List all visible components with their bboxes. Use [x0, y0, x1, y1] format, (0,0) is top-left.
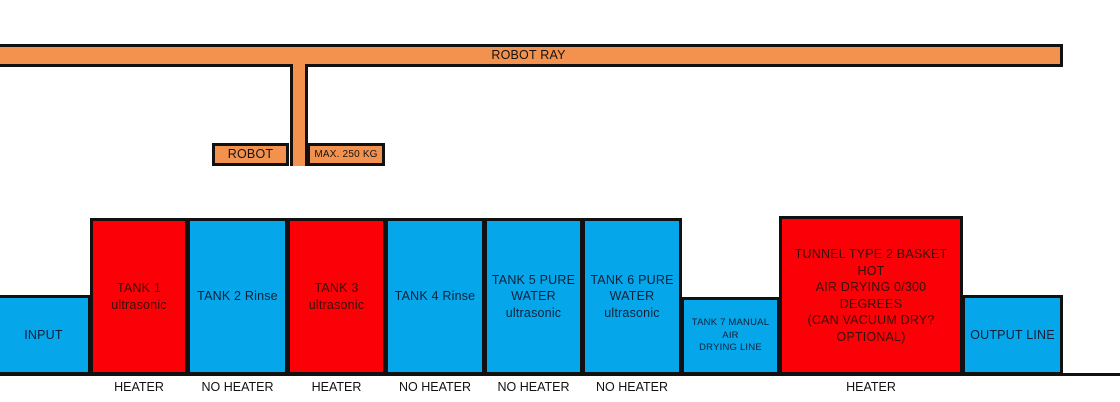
station-label: TANK 2 Rinse: [190, 288, 285, 305]
heater-caption: HEATER: [287, 376, 386, 398]
station-tank-6[interactable]: TANK 6 PURE WATER ultrasonic: [582, 218, 682, 375]
station-output-line[interactable]: OUTPUT LINE: [962, 295, 1063, 375]
robot-column: [290, 64, 308, 166]
station-label: OUTPUT LINE: [965, 327, 1060, 344]
robot-unit-label: ROBOT: [215, 146, 286, 163]
station-tank-3[interactable]: TANK 3 ultrasonic: [287, 218, 386, 375]
heater-caption: NO HEATER: [385, 376, 485, 398]
station-label: INPUT: [0, 327, 88, 344]
station-label: TANK 4 Rinse: [388, 288, 482, 305]
heater-caption: HEATER: [90, 376, 188, 398]
station-tank-4[interactable]: TANK 4 Rinse: [385, 218, 485, 375]
heater-caption: NO HEATER: [187, 376, 288, 398]
heater-caption: NO HEATER: [484, 376, 583, 398]
station-label: TUNNEL TYPE 2 BASKET HOT AIR DRYING 0/30…: [782, 246, 960, 345]
station-label: TANK 1 ultrasonic: [93, 280, 185, 313]
station-label: TANK 3 ultrasonic: [290, 280, 383, 313]
robot-capacity-label: MAX. 250 KG: [310, 148, 382, 161]
station-tunnel-dryer[interactable]: TUNNEL TYPE 2 BASKET HOT AIR DRYING 0/30…: [779, 216, 963, 375]
heater-caption: NO HEATER: [582, 376, 682, 398]
station-label: TANK 6 PURE WATER ultrasonic: [585, 272, 679, 322]
station-tank-2[interactable]: TANK 2 Rinse: [187, 218, 288, 375]
heater-caption: HEATER: [779, 376, 963, 398]
robot-rail-label: ROBOT RAY: [0, 47, 1060, 64]
robot-capacity[interactable]: MAX. 250 KG: [307, 143, 385, 166]
station-tank-5[interactable]: TANK 5 PURE WATER ultrasonic: [484, 218, 583, 375]
station-input-line[interactable]: INPUT: [0, 295, 91, 375]
robot-unit[interactable]: ROBOT: [212, 143, 289, 166]
robot-rail[interactable]: ROBOT RAY: [0, 44, 1063, 67]
station-label: TANK 7 MANUAL AIR DRYING LINE: [684, 317, 777, 355]
station-tank-7[interactable]: TANK 7 MANUAL AIR DRYING LINE: [681, 297, 780, 375]
station-label: TANK 5 PURE WATER ultrasonic: [487, 272, 580, 322]
cleaning-line-diagram: ROBOT RAY ROBOT MAX. 250 KG INPUT TANK 1…: [0, 0, 1120, 402]
station-tank-1[interactable]: TANK 1 ultrasonic: [90, 218, 188, 375]
